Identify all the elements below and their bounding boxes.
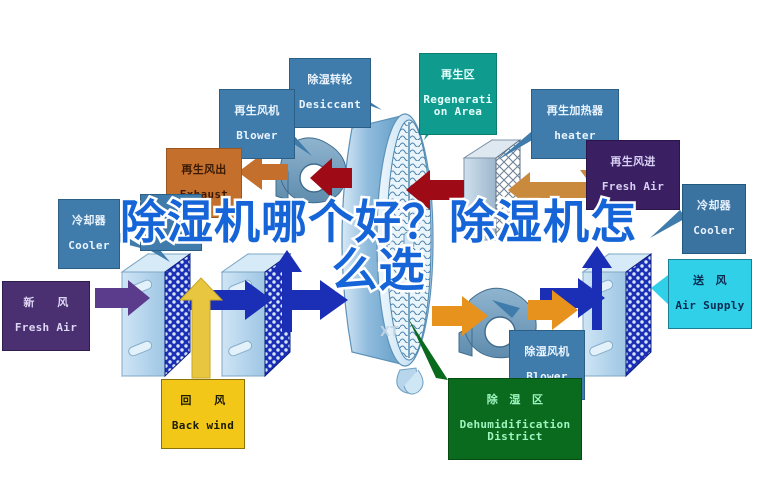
headline-overlay: 除湿机哪个好？除湿机怎么选 — [0, 198, 757, 295]
label-dehumidification-district: 除 湿 区 Dehumidification District — [448, 378, 582, 460]
watermark-text: XT — [380, 325, 399, 340]
label-fresh-air-en: Fresh Air — [5, 322, 87, 334]
label-fresh-air-cn: 新 风 — [5, 297, 87, 309]
label-regen-blower-cn: 再生风机 — [222, 105, 292, 117]
label-back-wind-en: Back wind — [164, 420, 242, 432]
label-air-supply-en: Air Supply — [671, 300, 749, 312]
label-dehumidification-district-cn: 除 湿 区 — [451, 394, 579, 406]
label-back-wind: 回 风 Back wind — [161, 379, 245, 449]
label-regen-fresh-air-en: Fresh Air — [589, 181, 677, 193]
label-exhaust-cn: 再生风出 — [169, 164, 239, 176]
label-dehumidification-district-en: Dehumidification District — [451, 419, 579, 444]
label-regeneration-area: 再生区 Regenerati on Area — [419, 53, 497, 135]
dehumidifier-diagram: XT 除湿转轮 Desiccant 再生风机 Blower 再生区 Regene… — [0, 0, 757, 488]
label-regeneration-area-en: Regenerati on Area — [422, 94, 494, 119]
label-regen-fresh-air-cn: 再生风进 — [589, 156, 677, 168]
label-desiccant-en: Desiccant — [292, 99, 368, 111]
headline-text: 除湿机哪个好？除湿机怎么选 — [99, 198, 659, 295]
label-dehumidify-blower-cn: 除湿风机 — [512, 346, 582, 358]
label-regen-heater-cn: 再生加热器 — [534, 105, 616, 117]
label-back-wind-cn: 回 风 — [164, 395, 242, 407]
label-regeneration-area-cn: 再生区 — [422, 69, 494, 81]
label-regen-blower-en: Blower — [222, 130, 292, 142]
label-desiccant: 除湿转轮 Desiccant — [289, 58, 371, 128]
label-desiccant-cn: 除湿转轮 — [292, 74, 368, 86]
